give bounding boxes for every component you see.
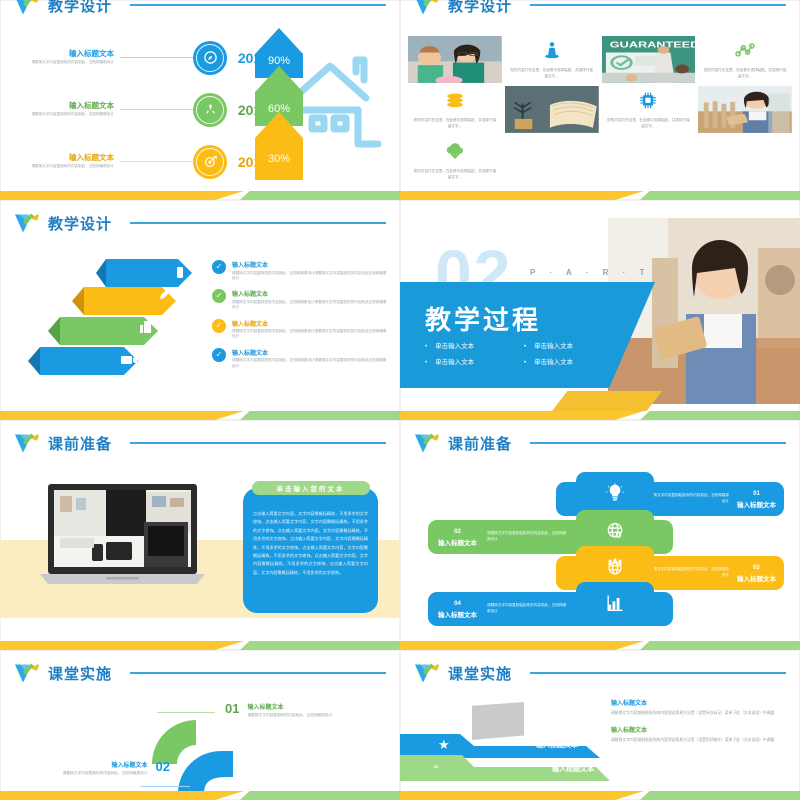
list-item[interactable]: ✓ 输入标题文本 请替换文字内容复制您的内容到此，互知网媒原设计请替换文字内容复… <box>212 319 387 340</box>
header-rule <box>530 442 786 444</box>
bar-title: 输入标题文本 <box>438 537 477 547</box>
card-body: 点击输入简要文字内容，文字内容需概括精炼，不用多余的文字修饰。点击输入简要文字内… <box>253 510 368 577</box>
text-card[interactable]: 单击输入您的文本 点击输入简要文字内容，文字内容需概括精炼，不用多余的文字修饰。… <box>243 488 378 613</box>
check-icon: ✓ <box>212 260 226 274</box>
item-title: 输入标题文本 <box>63 760 148 769</box>
slide-7-classroom-implementation-curve[interactable]: 课堂实施 01 输入标题文本 请替换文字内容复制你的内容到此，互知网媒原设计 输… <box>0 650 400 800</box>
slide-header: 课堂实施 <box>414 662 786 684</box>
connector-line <box>140 786 190 787</box>
bullet-item[interactable]: 单击输入文本 <box>524 356 615 366</box>
slide-footer-band <box>400 791 800 800</box>
page-title: 课前准备 <box>48 433 112 454</box>
funnel-bar-2 <box>72 287 176 315</box>
grid-caption: 您的内容打在这里，在此框中选择粘贴，并选择只保留文字。 <box>412 168 498 180</box>
brand-logo-icon <box>14 432 40 454</box>
layers-icon <box>444 90 466 111</box>
header-rule <box>130 442 386 444</box>
slide-header: 教学设计 <box>14 212 386 234</box>
slide-6-pre-class-prep-bars[interactable]: 课前准备 请替换文字内容复制粘贴你的内容到此，互知网媒原设计 01 输入标题文本… <box>400 420 800 650</box>
connector-line <box>120 109 193 110</box>
item-title: 输入标题文本 <box>232 319 387 328</box>
laptop-desk-photo[interactable] <box>40 482 205 592</box>
quote-icon: “ <box>434 762 438 777</box>
bar-desc: 请替换文字内容复制粘贴你的内容到此，互知网媒原设计 <box>487 603 567 615</box>
item-title: 输入标题文本 <box>232 260 387 269</box>
interlocking-bars: 请替换文字内容复制粘贴你的内容到此，互知网媒原设计 01 输入标题文本 02 输… <box>428 468 776 618</box>
page-title: 课堂实施 <box>48 663 112 684</box>
bar-desc: 请替换文字内容复制粘贴你的内容到此，互知网媒原设计 <box>645 493 729 505</box>
funnel-item-list: ✓ 输入标题文本 请替换文字内容复制您的内容到此，互知网媒原设计请替换文字内容复… <box>212 260 387 377</box>
item-desc: 请替换文字内容复制您的内容到此，互知网媒原设计请替换文字内容复制您的内容到此互知… <box>232 271 387 282</box>
bar-number: 02 <box>438 528 477 537</box>
content-grid: 您的内容打在这里，在此框中选择粘贴，并选择只保留文字。 GUARANTEED <box>408 36 792 184</box>
arrow-percentage-chart: 90% 60% 30% <box>255 28 303 180</box>
grid-caption: 您的内容打在这里，在此框中选择粘贴，并选择只保留文字。 <box>412 117 498 129</box>
list-item[interactable]: ✓ 输入标题文本 请替换文字内容复制您的内容到此，互知网媒原设计请替换文字内容复… <box>212 348 387 369</box>
list-item[interactable]: ✓ 输入标题文本 请替换文字内容复制您的内容到此，互知网媒原设计请替换文字内容复… <box>212 289 387 310</box>
item-title: 输入标题文本 <box>232 289 387 298</box>
timeline-item[interactable]: 输入标题文本 请替换文字内容复制你的内容到此，互知网媒原设计 2019 <box>24 138 269 185</box>
recycle-icon[interactable] <box>193 93 227 127</box>
ribbon-text-block: 输入标题文本 请替换文字内容复制粘贴你的内容到此简易方法是（设置另存标记）菜单下… <box>611 698 786 753</box>
text-desc: 请替换文字内容复制粘贴你的内容到此简易方法是（设置形状格式）菜单下此（文本选项）… <box>611 737 786 743</box>
check-icon: ✓ <box>212 319 226 333</box>
svg-text:30%: 30% <box>268 153 290 165</box>
cloud-download-icon <box>444 140 466 162</box>
brand-logo-icon <box>14 662 40 684</box>
item-desc: 请替换文字内容复制你的内容到此，互知网媒原设计 <box>247 713 332 719</box>
header-rule <box>130 4 386 6</box>
svg-text:GUARANTEED: GUARANTEED <box>609 40 695 49</box>
compass-icon[interactable] <box>193 41 227 75</box>
timeline-desc: 请替换文字内容复制你的内容到此，互知网媒原设计 <box>24 60 114 65</box>
bar-desc: 请替换文字内容复制粘贴你的内容到此，互知网媒原设计 <box>487 531 567 543</box>
text-title: 输入标题文本 <box>611 698 786 707</box>
slide-header: 教学设计 <box>14 0 386 16</box>
slide-footer-band <box>400 411 800 420</box>
timeline-title: 输入标题文本 <box>24 101 114 110</box>
check-icon: ✓ <box>212 289 226 303</box>
item-desc: 请替换文字内容复制你的内容到此，互知网媒原设计 <box>63 771 148 777</box>
page-title: 课前准备 <box>448 433 512 454</box>
bar-number: 04 <box>438 600 477 609</box>
slide-header: 课堂实施 <box>14 662 386 684</box>
slide-footer-band <box>0 411 400 420</box>
slide-deck: 教学设计 输入标题文本 请替换文字内容复制你的内容到此，互知网媒原设计 2017 <box>0 0 800 800</box>
page-title: 教学设计 <box>448 0 512 16</box>
teacher-and-child-photo[interactable] <box>408 36 502 83</box>
item-desc: 请替换文字内容复制您的内容到此，互知网媒原设计请替换文字内容复制您的内容到此互知… <box>232 358 387 369</box>
bar-number: 01 <box>737 490 776 499</box>
slide-footer-band <box>400 641 800 650</box>
bar-number: 03 <box>737 564 776 573</box>
timeline-list: 输入标题文本 请替换文字内容复制你的内容到此，互知网媒原设计 2017 输入标题… <box>24 34 269 190</box>
brand-logo-icon <box>414 662 440 684</box>
slide-4-section-cover[interactable]: 02 P · A · R · T 教学过程 单击输入文本 单击输入文本 单击输入… <box>400 200 800 420</box>
person-podium-icon <box>541 40 563 61</box>
grid-caption: 您的内容打在这里，在此框中选择粘贴，并选择只保留文字。 <box>606 117 692 129</box>
bullet-item[interactable]: 单击输入文本 <box>425 356 516 366</box>
svg-text:90%: 90% <box>268 55 290 67</box>
stacked-arrow-bars <box>28 255 218 385</box>
text-title: 输入标题文本 <box>611 725 786 734</box>
timeline-desc: 请替换文字内容复制你的内容到此，互知网媒原设计 <box>24 164 114 169</box>
ribbon-label: 输入标题文本 <box>552 764 594 774</box>
slide-1-teaching-design-timeline[interactable]: 教学设计 输入标题文本 请替换文字内容复制你的内容到此，互知网媒原设计 2017 <box>0 0 400 200</box>
slide-footer-band <box>0 641 400 650</box>
header-rule <box>130 672 386 674</box>
curve-item-01[interactable]: 01 输入标题文本 请替换文字内容复制你的内容到此，互知网媒原设计 <box>225 702 332 719</box>
connector-line <box>120 161 193 162</box>
brand-logo-icon <box>14 0 40 16</box>
grid-caption: 您的内容打在这里，在此框中选择粘贴，并选择只保留文字。 <box>509 67 595 79</box>
open-book-photo[interactable] <box>505 86 599 133</box>
item-title: 输入标题文本 <box>247 702 332 711</box>
timeline-item[interactable]: 输入标题文本 请替换文字内容复制你的内容到此，互知网媒原设计 2017 <box>24 34 269 81</box>
grid-text-cell[interactable]: 您的内容打在这里，在此框中选择粘贴，并选择只保留文字。 <box>408 86 502 133</box>
timeline-desc: 请替换文字内容复制你的内容到此，互知网媒原设计 <box>24 112 114 117</box>
network-nodes-icon <box>734 40 756 61</box>
slide-header: 教学设计 <box>414 0 786 16</box>
lightbulb-idea-icon <box>576 472 654 514</box>
curve-segment-green <box>152 720 196 764</box>
cover-bullet-list: 单击输入文本 单击输入文本 单击输入文本 单击输入文本 <box>425 340 615 366</box>
page-title: 教学设计 <box>48 0 112 16</box>
slide-header: 课前准备 <box>14 432 386 454</box>
bullet-item[interactable]: 单击输入文本 <box>524 340 615 350</box>
star-icon: ★ <box>438 737 450 753</box>
chip-icon <box>637 90 659 111</box>
timeline-title: 输入标题文本 <box>24 49 114 58</box>
brand-logo-icon <box>414 0 440 16</box>
slide-footer-band <box>0 791 400 800</box>
item-desc: 请替换文字内容复制您的内容到此，互知网媒原设计请替换文字内容复制您的内容到此互知… <box>232 329 387 340</box>
timeline-title: 输入标题文本 <box>24 153 114 162</box>
ribbon-item-green[interactable]: “ 输入标题文本 <box>400 756 610 782</box>
grid-text-cell[interactable]: 您的内容打在这里，在此框中选择粘贴，并选择只保留文字。 <box>698 36 792 83</box>
page-title: 课堂实施 <box>448 663 512 684</box>
connector-line <box>157 712 215 713</box>
timeline-item[interactable]: 输入标题文本 请替换文字内容复制你的内容到此，互知网媒原设计 2018 <box>24 86 269 133</box>
slide-header: 课前准备 <box>414 432 786 454</box>
grid-text-cell[interactable]: 您的内容打在这里，在此框中选择粘贴，并选择只保留文字。 <box>602 86 696 133</box>
item-number: 01 <box>225 702 239 715</box>
target-icon[interactable] <box>193 145 227 179</box>
yellow-accent-stripe <box>552 391 662 411</box>
header-rule <box>130 222 386 224</box>
svg-text:60%: 60% <box>268 103 290 115</box>
slide-footer-band <box>0 191 400 200</box>
bar-title: 输入标题文本 <box>737 499 776 509</box>
bar-chart-icon <box>576 582 654 624</box>
grid-text-cell[interactable]: 您的内容打在这里，在此框中选择粘贴，并选择只保留文字。 <box>408 136 502 184</box>
girl-with-tablet-photo[interactable] <box>698 86 792 133</box>
check-icon: ✓ <box>212 348 226 362</box>
connector-line <box>120 57 193 58</box>
grid-text-cell[interactable]: 您的内容打在这里，在此框中选择粘贴，并选择只保留文字。 <box>505 36 599 83</box>
slide-5-pre-class-prep-laptop[interactable]: 课前准备 单击输入您的文本 点击输入简要文字内容，文字内容需概括精炼，不用多余的… <box>0 420 400 650</box>
list-item[interactable]: ✓ 输入标题文本 请替换文字内容复制您的内容到此，互知网媒原设计请替换文字内容复… <box>212 260 387 281</box>
brand-logo-icon <box>414 432 440 454</box>
text-desc: 请替换文字内容复制粘贴你的内容到此简易方法是（设置另存标记）菜单下此（文本选项）… <box>611 710 786 716</box>
ribbon-label: 输入标题文本 <box>536 740 578 750</box>
house-icon <box>292 52 392 157</box>
grid-caption: 您的内容打在这里，在此框中选择粘贴，并选择只保留文字。 <box>702 67 788 79</box>
item-number: 02 <box>156 760 170 773</box>
slide-8-classroom-implementation-ribbons[interactable]: 课堂实施 ★ 输入标题文本 “ 输入标题文本 输入标题文本 请替换文字内容复制粘… <box>400 650 800 800</box>
header-rule <box>530 672 786 674</box>
section-title: 教学过程 <box>425 300 541 337</box>
slide-footer-band <box>400 191 800 200</box>
card-title: 单击输入您的文本 <box>252 481 370 495</box>
slide-2-teaching-design-grid[interactable]: 教学设计 <box>400 0 800 200</box>
bullet-item[interactable]: 单击输入文本 <box>425 340 516 350</box>
item-desc: 请替换文字内容复制您的内容到此，互知网媒原设计请替换文字内容复制您的内容到此互知… <box>232 300 387 311</box>
curve-item-02[interactable]: 输入标题文本 请替换文字内容复制你的内容到此，互知网媒原设计 02 <box>20 760 170 777</box>
brand-logo-icon <box>14 212 40 234</box>
bar-title: 输入标题文本 <box>438 609 477 619</box>
item-title: 输入标题文本 <box>232 348 387 357</box>
guaranteed-presentation-photo[interactable]: GUARANTEED <box>602 36 696 83</box>
header-rule <box>530 4 786 6</box>
part-label: P · A · R · T <box>530 268 650 277</box>
bar-desc: 请替换文字内容复制粘贴你的内容到此，互知网媒原设计 <box>645 567 729 579</box>
bar-title: 输入标题文本 <box>737 573 776 583</box>
slide-3-teaching-design-funnel[interactable]: 教学设计 ✓ 输入标题文本 请替换文字内容复制您的内容到此，互知网媒原设计请替换… <box>0 200 400 420</box>
page-title: 教学设计 <box>48 213 112 234</box>
